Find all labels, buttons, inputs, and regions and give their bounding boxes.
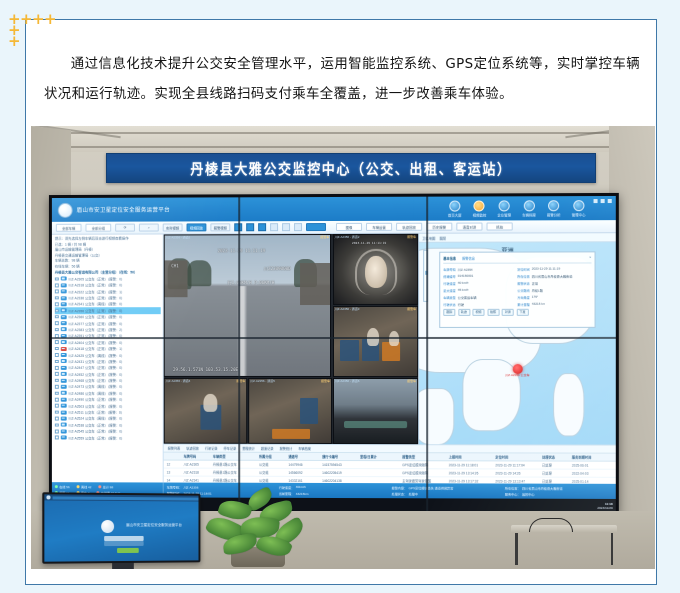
layer-select[interactable]: 图层: [439, 235, 446, 240]
map-landmass-india: [418, 388, 454, 446]
app-title: 眉山市安卫星定位安全服务运营平台: [77, 206, 170, 214]
cabin-seat: [300, 398, 318, 424]
vehicle-plate-label: 川Z·A2341 公交车（离线）（报警：0）: [68, 302, 124, 307]
vehicle-plate-label: 川Z·A2559 公交车（正常）（报警：0）: [68, 435, 124, 440]
vehicle-checkbox[interactable]: [55, 404, 59, 408]
table-tab[interactable]: 车辆档案: [298, 446, 311, 451]
tab-basic-info[interactable]: 基本信息: [443, 256, 456, 261]
bus-icon: [60, 340, 66, 344]
table-column-header[interactable]: 里程/日累计: [357, 454, 399, 459]
nav-item-vehicle[interactable]: 车辆档案: [522, 200, 536, 217]
vehicle-plate-label: 川Z·A2545 公交车（正常）（报警：0）: [68, 429, 124, 434]
status-alarm-content: 报警内容：GPS定位模块丢失 通道视频异常: [392, 485, 499, 490]
popup-field-value: 176°: [532, 295, 538, 299]
table-column-header[interactable]: 上报时间: [446, 454, 493, 459]
vehicle-checkbox[interactable]: [55, 360, 59, 364]
vehicle-checkbox[interactable]: [55, 328, 59, 332]
banner-text: 丹棱县大雅公交监控中心（公交、出租、客运站）: [190, 157, 511, 178]
popup-button[interactable]: 对讲: [502, 308, 514, 315]
image-select[interactable]: 图像: [336, 223, 362, 231]
status-detail-col-3: 报警内容：GPS定位模块丢失 通道视频异常 处理状态：处理中: [389, 483, 502, 498]
vehicle-filter-select[interactable]: 全部车辆: [56, 224, 82, 232]
vehicle-plate-label: 川Z·A2490 公交车（正常）（报警：0）: [68, 397, 124, 402]
bus-icon: [60, 366, 66, 370]
track-playback-select[interactable]: 轨迹回放: [396, 223, 422, 231]
vehicle-plate-label: 川Z·A2377 公交车（正常）（报警：0）: [68, 321, 124, 326]
bus-icon: [60, 391, 66, 395]
clock-date: 2023/11/29: [597, 505, 612, 509]
app-header: 眉山市安卫星定位安全服务运营平台 首页大屏 视频监控 企业管理: [52, 196, 616, 222]
table-cell: GPS定位模块故障: [399, 470, 445, 475]
vehicle-plate-label: 川Z·A2431 公交车（正常）（报警：0）: [68, 359, 124, 364]
table-leg: [515, 533, 518, 565]
vehicle-plate-label: 川Z·A2473 公交车（离线）（报警：0）: [68, 384, 124, 389]
vehicle-checkbox[interactable]: [55, 391, 59, 395]
video-cell-label: 川Z·A2356 - 通道4: [166, 379, 191, 383]
popup-field-key: 行驶状态: [443, 301, 455, 306]
login-logo-icon: [101, 520, 114, 533]
vehicle-tree-list[interactable]: 川Z·A2305 公交车（正常）（报警：0）川Z·A2318 公交车（正常）（报…: [55, 275, 161, 440]
popup-field-key: 定位时间: [517, 266, 529, 271]
table-cell: 丹棱县1路公交车: [210, 462, 256, 467]
vehicle-checkbox[interactable]: [55, 372, 59, 376]
cabin-passenger: [204, 394, 217, 412]
table-cell: 13: [164, 470, 181, 474]
table-cell: 14479946: [285, 462, 319, 466]
video-cell-label: 川Z·A2356 - 通道3: [335, 307, 360, 311]
table-column-header[interactable]: 服务到期时间: [569, 455, 616, 460]
live-video-button[interactable]: 实时视频: [163, 223, 183, 231]
monitor-stand: [112, 563, 134, 569]
popup-field-value: 行驶: [458, 301, 464, 306]
display-seam: [238, 197, 240, 510]
bus-icon: [60, 359, 66, 363]
table-cell: 公交组: [256, 470, 285, 475]
table-tab[interactable]: 行驶记录: [205, 446, 218, 451]
browser-chrome: [44, 494, 198, 501]
nav-item-settings[interactable]: 管理中心: [572, 200, 586, 217]
driver-hood: [355, 249, 397, 295]
table-column-header[interactable]: 定位时间: [492, 454, 539, 459]
bus-icon: [60, 290, 66, 294]
popup-field-key: 报警状态: [517, 280, 529, 285]
popup-field-value: 45 km/h: [458, 288, 469, 292]
vehicle-plate-label: 川Z·A2356 公交车（正常）（报警：0）: [68, 308, 124, 313]
table-tab[interactable]: 里程统计: [242, 446, 255, 451]
table-column-header[interactable]: 通道号: [285, 454, 319, 459]
plus-icon: +: [8, 12, 21, 27]
popup-field-key: 车辆类型: [443, 294, 455, 299]
display-seam: [52, 337, 616, 339]
vehicle-plate-label: 川Z·A2383 公交车（正常）（报警：2）: [68, 327, 124, 332]
bus-icon: [60, 436, 66, 440]
popup-field-key: 公交路线: [517, 287, 529, 292]
table-cell: 2023-11-29 14:26: [492, 471, 539, 475]
table-cell: 2023-11-29 13:13:47: [492, 479, 539, 483]
vehicle-checkbox[interactable]: [55, 321, 59, 325]
popup-field-key: 终端编号: [443, 273, 455, 278]
table-cell: 14157594543: [319, 462, 357, 466]
vehicle-plate-label: 川Z·A2305 公交车（正常）（报警：0）: [68, 276, 124, 281]
search-icon[interactable]: ⌕: [139, 224, 159, 232]
table-cell: 已处理: [539, 471, 569, 476]
vehicle-plate-label: 川Z·A2322 公交车（正常）（报警：1）: [68, 289, 124, 294]
bus-icon: [60, 309, 66, 313]
video-cell-label: 川Z·A2356 - 通道1: [166, 235, 191, 239]
popup-button[interactable]: 视频: [472, 308, 484, 315]
popup-field-value: 43215 km: [532, 302, 546, 306]
plus-icon: +: [8, 23, 21, 38]
vehicle-checkbox[interactable]: [55, 277, 59, 281]
ceiling-line: [31, 146, 655, 148]
video-cell-label: 川Z·A2356 - 通道2: [335, 235, 360, 239]
vehicle-plate-label: 川Z·A2447 公交车（正常）（报警：0）: [68, 365, 124, 370]
maximize-icon[interactable]: [601, 199, 605, 203]
vehicle-checkbox[interactable]: [55, 423, 59, 427]
monitor-screen: 眉山市安卫星定位安全服务运营平台: [44, 494, 198, 561]
layout-16-button[interactable]: [294, 223, 302, 231]
vehicle-checkbox[interactable]: [55, 429, 59, 433]
bus-icon: [60, 410, 66, 414]
platform-logo-icon: [58, 202, 73, 217]
video-cell-alarm-label: 报警车: [407, 307, 416, 311]
ceiling-line: [31, 132, 655, 134]
vehicle-tree-panel[interactable]: 提示：请先选择左侧车辆后双击进行视频查看操作 已选：1 辆 / 共 98 辆 眉…: [52, 234, 164, 482]
nav-item-company[interactable]: 企业管理: [497, 200, 511, 217]
alarm-table-panel[interactable]: 报警列表轨迹回放行驶记录停车记录里程统计超速记录报警统计车辆档案 车牌号码车辆类…: [164, 444, 616, 484]
vehicle-checkbox[interactable]: [55, 283, 59, 287]
vehicle-checkbox[interactable]: [55, 385, 59, 389]
vehicle-checkbox[interactable]: [55, 436, 59, 440]
video-wall-screen: 眉山市安卫星定位安全服务运营平台 首页大屏 视频监控 企业管理: [52, 196, 616, 512]
intercom-select[interactable]: 语音对讲: [456, 223, 482, 231]
vehicle-checkbox[interactable]: [55, 379, 59, 383]
video-cell-alarm-label: 报警车: [407, 379, 416, 383]
playback-button[interactable]: 视频回放: [187, 223, 207, 231]
vehicle-plate-label: 川Z·A2418 公交车（正常）（报警：1）: [68, 346, 124, 351]
table-cell: 川Z·A2318: [181, 470, 210, 475]
plus-icon: +: [8, 34, 21, 49]
video-timestamp: 2023-11-29 11:11:19: [218, 248, 266, 253]
popup-button[interactable]: 跟踪: [443, 308, 455, 315]
video-cell-channel-5[interactable]: 川Z·A2356 - 通道5 报警车: [248, 378, 332, 444]
vehicle-checkbox[interactable]: [55, 398, 59, 402]
tab-alarm-info[interactable]: 报警信息: [462, 256, 475, 261]
popup-field-key: 最大速度: [443, 287, 455, 292]
cabin-seat: [340, 340, 358, 361]
table-column-header[interactable]: 通行卡编号: [319, 454, 357, 459]
table-cell: 2023-11-29 13:14:26: [446, 471, 493, 475]
table-cell: 14602204138: [319, 478, 357, 482]
browser-icon: [46, 495, 50, 499]
vehicle-plate-label: 川Z·A2503 公交车（正常）（报警：0）: [68, 403, 124, 408]
nav-label: 首页大屏: [448, 212, 462, 217]
video-cell-label: 川Z·A2356 - 通道5: [250, 379, 275, 383]
table-tab[interactable]: 超速记录: [261, 446, 274, 451]
bus-icon: [60, 353, 66, 357]
vehicle-plate-label: 川Z·A2468 公交车（正常）（报警：0）: [68, 378, 124, 383]
vehicle-plate-label: 川Z·A2336 公交车（正常）（报警：0）: [68, 295, 124, 300]
company-icon: [499, 200, 510, 211]
refresh-button[interactable]: ⟳: [115, 224, 135, 232]
popup-button[interactable]: 下发: [516, 308, 528, 315]
roadside-tree: [188, 261, 211, 286]
video-cell-channel-2[interactable]: 川Z·A2356 - 通道2 报警车 2023-11-29 11:11:19: [333, 234, 419, 306]
bus-icon: [60, 302, 66, 306]
bus-icon: [60, 296, 66, 300]
status-location: 所在位置：四川省眉山市丹棱县大雅街道: [505, 485, 613, 490]
monitor-bezel: 眉山市安卫星定位安全服务运营平台: [42, 492, 200, 563]
bus-icon: [60, 321, 66, 325]
map-landmass-philippines: [553, 373, 585, 436]
center-banner: 丹棱县大雅公交监控中心（公交、出租、客运站）: [106, 153, 596, 183]
potted-plant: [201, 489, 321, 567]
table-cell: 2025-06-01: [569, 463, 616, 467]
video-cell-alarm-label: 报警车: [321, 379, 330, 383]
popup-field-key: 车牌号码: [443, 266, 455, 271]
nav-item-alarm[interactable]: 报警分析: [547, 200, 561, 217]
table-cell: 2023-11-29 11:18:01: [446, 463, 493, 467]
table-cell: 已处理: [539, 463, 569, 468]
popup-field: 方向角度176°: [517, 293, 591, 300]
popup-field-grid: 车牌号码川Z·A2356定位时间2023-11-29 11:11:19终端编号0…: [443, 265, 591, 307]
popup-field-value: 正常: [532, 280, 538, 285]
popup-field-value: 014150001: [458, 274, 474, 278]
status-handle-state: 处理状态：处理中: [392, 491, 499, 496]
vehicle-checkbox[interactable]: [55, 366, 59, 370]
video-cell-channel-4[interactable]: 川Z·A2356 - 通道4 报警车: [164, 378, 248, 444]
vehicle-plate-label: 川Z·A2511 公交车（正常）（报警：0）: [68, 410, 124, 415]
table-cell: 2023-11-29 11:17:04: [492, 463, 539, 467]
marker-label: 川Z·A2356 公交车: [505, 373, 530, 377]
bus-icon: [60, 378, 66, 382]
vehicle-checkbox[interactable]: [55, 315, 59, 319]
table-tab[interactable]: 报警列表: [168, 446, 181, 451]
operation-select[interactable]: 车辆运营: [366, 223, 392, 231]
table-cell: 2023-11-29 13:17:32: [446, 479, 493, 483]
bus-icon: [60, 328, 66, 332]
video-cell-channel-6[interactable]: 川Z·A2356 - 通道6 报警车: [333, 378, 419, 444]
vehicle-plate-label: 川Z·A2486 公交车（离线）（报警：0）: [68, 391, 124, 396]
table-tab[interactable]: 轨迹回放: [186, 446, 199, 451]
table-cell: GPS定位模块故障: [399, 462, 445, 467]
popup-button[interactable]: 拍照: [487, 308, 499, 315]
table-cell: 2025-01-14: [569, 479, 616, 483]
bus-icon: [60, 429, 66, 433]
ceiling: [31, 126, 655, 152]
popup-button[interactable]: 轨迹: [458, 308, 470, 315]
nav-label: 报警分析: [547, 212, 561, 217]
vehicle-checkbox[interactable]: [55, 353, 59, 357]
settings-icon: [573, 200, 584, 211]
close-icon[interactable]: ×: [589, 254, 591, 259]
vehicle-checkbox[interactable]: [55, 341, 59, 345]
table-cell: 14332161: [285, 478, 319, 482]
side-table: [511, 525, 617, 565]
bus-icon: [60, 404, 66, 408]
nav-label: 企业管理: [497, 212, 511, 217]
content-card: 通过信息化技术提升公交安全管理水平，运用智能监控系统、GPS定位系统等，实时掌控…: [25, 19, 657, 585]
password-field[interactable]: [104, 541, 143, 546]
vehicle-checkbox[interactable]: [55, 296, 59, 300]
minimize-icon[interactable]: [594, 199, 598, 203]
layout-6-button[interactable]: [258, 223, 266, 231]
popup-field-key: 方向角度: [517, 294, 529, 299]
table-column-header[interactable]: 车牌号码: [181, 454, 210, 459]
video-cell-alarm-label: 报警车: [407, 235, 416, 239]
nav-item-home[interactable]: 首页大屏: [448, 200, 462, 217]
vehicle-info-popup[interactable]: × 基本信息 报警信息 车牌号码川Z·A2356定位时间2023-11-29 1…: [439, 251, 595, 328]
roadside-building: [300, 263, 330, 305]
video-speed: 行1:00KM/H P:06KM/H: [227, 280, 274, 286]
vehicle-tree-row[interactable]: 川Z·A2559 公交车（正常）（报警：0）: [55, 434, 161, 441]
video-timestamp: 2023-11-29 11:11:19: [352, 240, 386, 244]
table-leg: [611, 533, 614, 565]
vehicle-checkbox[interactable]: [55, 309, 59, 313]
bus-icon: [60, 417, 66, 421]
popup-field-key: 所在位置: [517, 273, 529, 278]
bus-icon: [60, 372, 66, 376]
vehicle-checkbox[interactable]: [55, 410, 59, 414]
video-device-id: 川Z2309000D: [264, 266, 291, 272]
table-cell: 14602205419: [319, 470, 357, 474]
vehicle-plate-label: 川Z·A2524 公交车（离线）（报警：0）: [68, 416, 124, 421]
bus-icon: [60, 397, 66, 401]
video-cell-channel-3[interactable]: 川Z·A2356 - 通道3 报警车: [333, 306, 419, 376]
status-center: 服务中心：监控中心: [505, 492, 613, 497]
app-nav[interactable]: 首页大屏 视频监控 企业管理 车辆档案: [448, 200, 610, 218]
vehicle-checkbox[interactable]: [55, 347, 59, 351]
history-alarm-select[interactable]: 历史报警: [426, 223, 452, 231]
popup-field-value: 2023-11-29 11:11:19: [532, 267, 560, 271]
group-filter-select[interactable]: 全部分组: [85, 224, 111, 232]
close-icon[interactable]: [608, 199, 612, 203]
status-offline: 离线 42: [77, 484, 92, 489]
popup-field-value: 四川省眉山市丹棱县大雅街道: [532, 273, 573, 278]
address-bar: [53, 496, 199, 500]
bus-icon: [60, 277, 66, 281]
snapshot-select[interactable]: 抓拍: [487, 222, 513, 230]
login-title: 眉山市安卫星定位安全服务运营平台: [126, 523, 182, 528]
taskbar-clock[interactable]: 11:18 2023/11/29: [597, 501, 615, 509]
vehicle-checkbox[interactable]: [55, 302, 59, 306]
cabin-step: [272, 429, 310, 439]
popup-field-value: 40 km/h: [458, 281, 469, 285]
video-cell-channel-1[interactable]: 川Z·A2356 - 通道1 报警车 2023-11-29 11:11:19 川…: [164, 234, 332, 377]
vehicle-plate-label: 川Z·A2425 公交车（离线）（报警：0）: [68, 353, 124, 358]
vehicle-plate-label: 川Z·A2452 公交车（正常）（报警：0）: [68, 372, 124, 377]
video-wall: 眉山市安卫星定位安全服务运营平台 首页大屏 视频监控 企业管理: [49, 193, 619, 515]
status-online: 在线 56: [55, 484, 70, 489]
cable: [529, 518, 573, 532]
popup-field-value: 川Z·A2356: [458, 266, 473, 271]
alarm-video-button[interactable]: 报警视频: [210, 223, 230, 231]
popup-field: 车辆类型公交客运车辆: [443, 293, 517, 300]
nav-label: 车辆档案: [522, 212, 536, 217]
table-tab[interactable]: 停车记录: [224, 446, 237, 451]
layout-4-button[interactable]: [246, 223, 254, 231]
vehicle-checkbox[interactable]: [55, 417, 59, 421]
popup-field-value: 公交客运车辆: [458, 294, 477, 299]
display-seam: [426, 197, 428, 512]
video-cell-label: 川Z·A2356 - 通道6: [335, 379, 360, 383]
bus-icon: [60, 385, 66, 389]
nav-label: 管理中心: [572, 212, 586, 217]
table-cell: 12: [164, 462, 181, 466]
status-detail-col-4: 所在位置：四川省眉山市丹棱县大雅街道 服务中心：监控中心: [502, 484, 616, 499]
popup-field: 行驶状态行驶: [443, 300, 517, 307]
vehicle-marker-icon[interactable]: 川Z·A2356 公交车: [511, 364, 523, 377]
bus-icon-alarm: [60, 347, 66, 351]
status-row: 在线 56 离线 42 总计 98: [55, 484, 160, 489]
video-coordinates: 29.56.1.571N 103.53.15.20E: [173, 367, 238, 372]
home-icon: [449, 200, 460, 211]
login-button[interactable]: [117, 548, 139, 553]
table-cell: 14: [164, 478, 181, 482]
table-column-header[interactable]: 所属分组: [256, 454, 285, 459]
table-column-header[interactable]: 报警类型: [399, 454, 445, 459]
popup-field-key: 累计里程: [517, 301, 529, 306]
popup-tabs[interactable]: 基本信息 报警信息: [443, 255, 591, 263]
monitoring-center-photo: 丹棱县大雅公交监控中心（公交、出租、客运站） 眉山市安卫星定位安全服务运营平台 …: [31, 126, 655, 569]
video-cell-alarm-label: 报警车: [320, 235, 329, 239]
table-column-header[interactable]: 车辆类型: [210, 454, 256, 459]
table-cell: 2022-04-03: [569, 471, 616, 475]
vehicle-checkbox[interactable]: [55, 290, 59, 294]
table-tab[interactable]: 报警统计: [280, 446, 293, 451]
vehicle-plate-label: 川Z·A2360 公交车（正常）（报警：0）: [68, 314, 124, 319]
app-toolbar[interactable]: 全部车辆 全部分组 ⟳ ⌕ 实时视频 视频回放 报警视频 图像 车辆运营: [52, 220, 616, 235]
alarm-icon: [548, 200, 559, 211]
satellite-map-select[interactable]: 卫星地图: [422, 235, 435, 240]
table-cell: 川Z·A2305: [181, 462, 210, 467]
vehicle-icon: [523, 200, 534, 211]
video-grid[interactable]: 川Z·A2356 - 通道1 报警车 2023-11-29 11:11:19 川…: [164, 234, 418, 444]
video-channel: CH1: [171, 263, 179, 268]
popup-field-value: 丹棱1路: [532, 287, 543, 292]
bus-icon: [60, 315, 66, 319]
table-cell: 公交组: [256, 462, 285, 467]
table-cell: 丹棱县1路公交车: [210, 470, 256, 475]
vehicle-plate-label: 川Z·A2404 公交车（正常）（报警：0）: [68, 340, 124, 345]
article-paragraph: 通过信息化技术提升公交安全管理水平，运用智能监控系统、GPS定位系统等，实时掌控…: [44, 50, 640, 110]
nav-item-video[interactable]: 视频监控: [473, 200, 487, 217]
map-toolbar[interactable]: 卫星地图 图层: [419, 233, 616, 243]
bus-icon: [60, 283, 66, 287]
video-icon: [474, 200, 485, 211]
status-total: 总计 98: [98, 484, 113, 489]
table-cell: 14566092: [285, 470, 319, 474]
layout-9-button[interactable]: [270, 223, 278, 231]
bus-icon: [60, 423, 66, 427]
table-column-header[interactable]: 处理状态: [539, 454, 569, 459]
popup-field-key: 行驶速度: [443, 280, 455, 285]
desktop-monitor: 眉山市安卫星定位安全服务运营平台: [42, 492, 200, 563]
fullscreen-button[interactable]: [306, 223, 326, 231]
dashboard-view: [334, 379, 418, 443]
vehicle-plate-label: 川Z·A2318 公交车（正常）（报警：0）: [68, 283, 124, 288]
nav-label: 视频监控: [473, 212, 487, 217]
popup-action-buttons[interactable]: 跟踪轨迹视频拍照对讲下发: [443, 308, 591, 315]
window-controls[interactable]: [594, 199, 612, 203]
popup-field: 累计里程43215 km: [517, 300, 591, 307]
vehicle-plate-label: 川Z·A2538 公交车（正常）（报警：0）: [68, 422, 124, 427]
layout-12-button[interactable]: [282, 223, 290, 231]
